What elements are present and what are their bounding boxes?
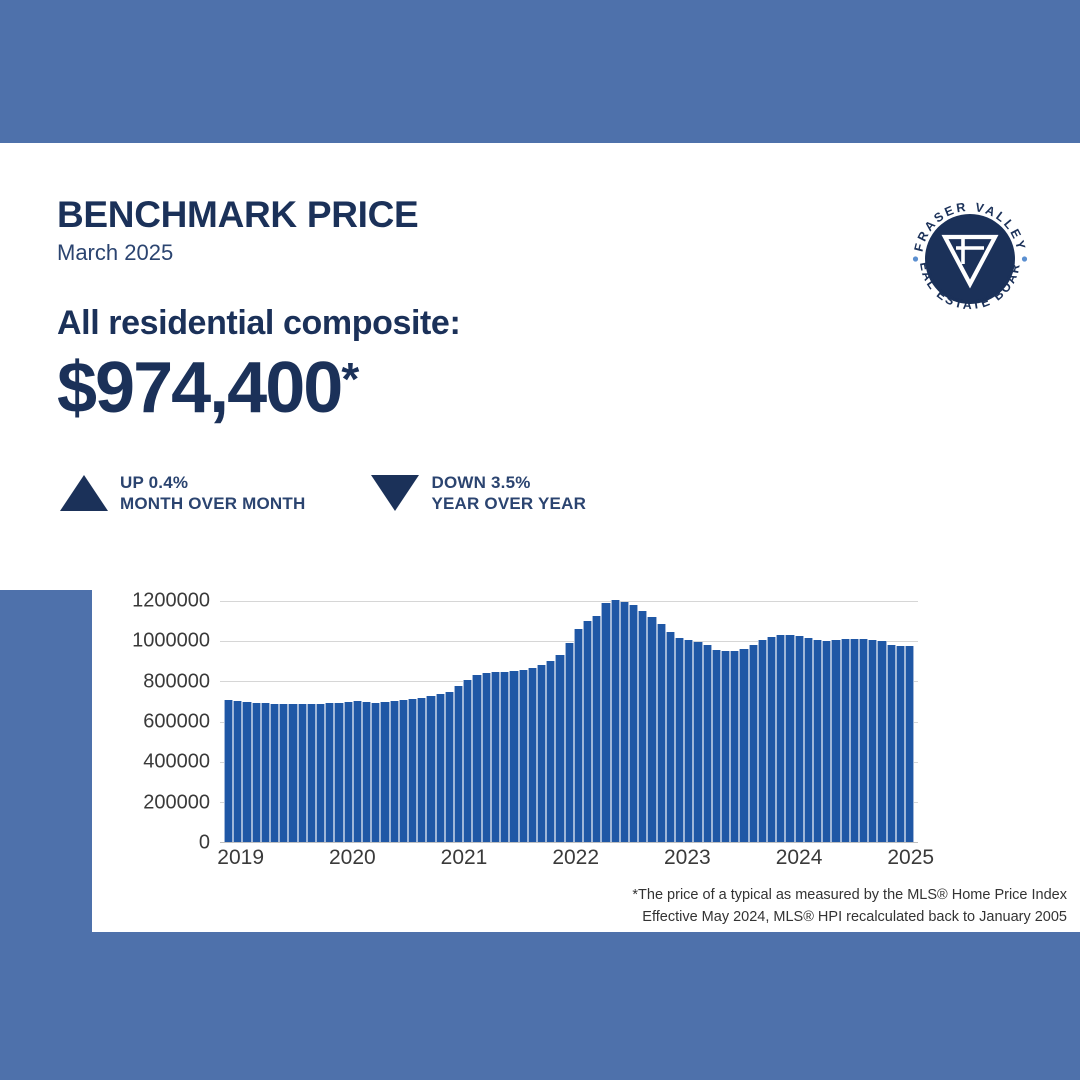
chart-bar — [601, 603, 610, 842]
chart-bar — [500, 672, 509, 842]
benchmark-price-value: $974,400* — [57, 352, 357, 424]
chart-bar — [454, 686, 463, 842]
chart-bar — [620, 602, 629, 842]
chart-bar — [270, 704, 279, 842]
stat-mom-value: UP 0.4% — [120, 472, 305, 493]
chart-bar — [565, 643, 574, 842]
chart-bar — [546, 661, 555, 842]
chart-bar — [905, 646, 914, 843]
composite-label: All residential composite: — [57, 304, 460, 343]
chart-bar — [334, 703, 343, 842]
chart-bar — [233, 701, 242, 842]
chart-bar — [592, 616, 601, 842]
chart-bar — [261, 703, 270, 842]
chart-bar — [224, 700, 233, 842]
page-title: BENCHMARK PRICE — [57, 196, 677, 235]
chart-bar — [399, 700, 408, 842]
chart-bar — [611, 600, 620, 842]
chart-bar — [712, 650, 721, 842]
y-tick-label: 1200000 — [132, 590, 210, 613]
y-tick-label: 1000000 — [132, 630, 210, 653]
chart-bar — [417, 698, 426, 842]
chart-bar — [519, 670, 528, 842]
x-axis-ticks: 2019202020212022202320242025 — [220, 846, 918, 876]
chart-bar — [380, 702, 389, 842]
chart-bar — [877, 641, 886, 842]
chart-bar — [371, 703, 380, 842]
chart-bars — [224, 601, 914, 842]
chart-bar — [850, 639, 859, 842]
chart-bar — [574, 629, 583, 842]
header: BENCHMARK PRICE March 2025 — [57, 196, 677, 265]
x-tick-label: 2020 — [329, 846, 376, 870]
chart-bar — [675, 638, 684, 842]
chart-bar — [279, 704, 288, 842]
benchmark-price-chart: 020000040000060000080000010000001200000 … — [0, 580, 1000, 880]
stat-yoy-value: DOWN 3.5% — [431, 472, 586, 493]
chart-bar — [804, 638, 813, 842]
chart-bar — [325, 703, 334, 842]
header-subtitle: March 2025 — [57, 241, 677, 265]
x-tick-label: 2024 — [776, 846, 823, 870]
x-tick-label: 2021 — [441, 846, 488, 870]
chart-bar — [426, 696, 435, 842]
chart-bar — [353, 701, 362, 842]
chart-bar — [463, 680, 472, 842]
footnote-line-1: *The price of a typical as measured by t… — [632, 884, 1067, 906]
chart-bar — [776, 635, 785, 842]
stat-yoy-text: DOWN 3.5% YEAR OVER YEAR — [431, 472, 586, 515]
chart-bar — [472, 675, 481, 842]
chart-bar — [721, 651, 730, 842]
stat-year-over-year: DOWN 3.5% YEAR OVER YEAR — [371, 472, 586, 515]
chart-bar — [739, 649, 748, 842]
chart-bar — [390, 701, 399, 842]
chart-bar — [887, 645, 896, 842]
chart-bar — [758, 640, 767, 842]
chart-bar — [841, 639, 850, 842]
chart-bar — [408, 699, 417, 842]
chart-bar — [795, 636, 804, 842]
y-axis-ticks: 020000040000060000080000010000001200000 — [110, 601, 210, 843]
chart-bar — [509, 671, 518, 842]
stats-row: UP 0.4% MONTH OVER MONTH DOWN 3.5% YEAR … — [60, 472, 586, 515]
x-tick-label: 2023 — [664, 846, 711, 870]
y-tick-label: 200000 — [143, 791, 210, 814]
chart-bar — [749, 645, 758, 842]
chart-bar — [896, 646, 905, 842]
chart-bar — [647, 617, 656, 842]
chart-plot-area — [220, 601, 918, 843]
chart-bar — [362, 702, 371, 842]
y-tick-label: 600000 — [143, 711, 210, 734]
chart-bar — [703, 645, 712, 842]
chart-bar — [657, 624, 666, 842]
chart-bar — [298, 704, 307, 842]
price-amount: $974,400 — [57, 348, 341, 428]
chart-bar — [767, 637, 776, 842]
chart-bar — [730, 651, 739, 842]
chart-bar — [666, 632, 675, 842]
chart-bar — [693, 642, 702, 842]
y-tick-label: 400000 — [143, 751, 210, 774]
y-tick-label: 0 — [199, 832, 210, 855]
stat-mom-text: UP 0.4% MONTH OVER MONTH — [120, 472, 305, 515]
chart-bar — [785, 635, 794, 842]
x-tick-label: 2019 — [217, 846, 264, 870]
poster-root: BENCHMARK PRICE March 2025 All residenti… — [0, 0, 1080, 1080]
chart-bar — [822, 641, 831, 842]
chart-bar — [344, 702, 353, 842]
fvreb-logo: FRASER VALLEY REAL ESTATE BOARD — [903, 192, 1037, 326]
chart-bar — [316, 704, 325, 842]
chart-bar — [242, 702, 251, 842]
chart-bar — [436, 694, 445, 842]
chart-bar — [307, 704, 316, 842]
chart-bar — [868, 640, 877, 842]
chart-bar — [831, 640, 840, 842]
x-axis-line — [220, 842, 918, 843]
stat-mom-period: MONTH OVER MONTH — [120, 493, 305, 514]
price-asterisk: * — [341, 353, 357, 405]
chart-bar — [583, 621, 592, 842]
triangle-down-icon — [371, 475, 419, 511]
chart-bar — [813, 640, 822, 842]
x-tick-label: 2022 — [552, 846, 599, 870]
chart-bar — [288, 704, 297, 842]
footnotes: *The price of a typical as measured by t… — [632, 884, 1067, 929]
chart-bar — [491, 672, 500, 842]
stat-yoy-period: YEAR OVER YEAR — [431, 493, 586, 514]
chart-bar — [684, 640, 693, 842]
chart-bar — [537, 665, 546, 842]
triangle-up-icon — [60, 475, 108, 511]
chart-bar — [528, 668, 537, 842]
chart-bar — [252, 703, 261, 842]
footnote-line-2: Effective May 2024, MLS® HPI recalculate… — [632, 906, 1067, 928]
chart-bar — [445, 692, 454, 842]
x-tick-label: 2025 — [887, 846, 934, 870]
stat-month-over-month: UP 0.4% MONTH OVER MONTH — [60, 472, 305, 515]
chart-bar — [555, 655, 564, 842]
chart-bar — [629, 605, 638, 842]
y-tick-label: 800000 — [143, 670, 210, 693]
chart-bar — [482, 673, 491, 842]
chart-bar — [638, 611, 647, 843]
chart-bar — [859, 639, 868, 842]
